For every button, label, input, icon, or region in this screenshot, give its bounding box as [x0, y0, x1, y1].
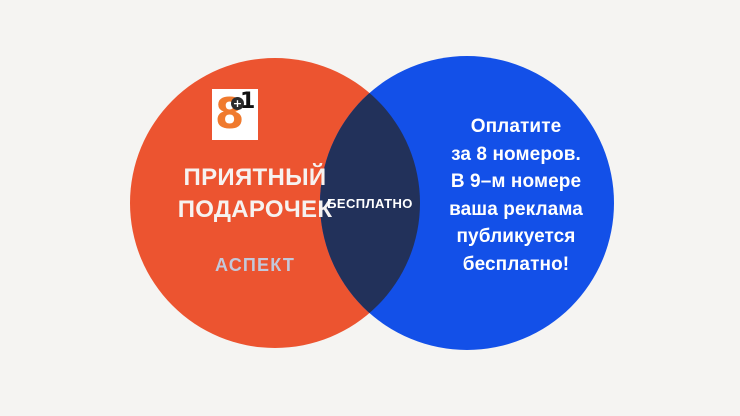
intersection-label: БЕСПЛАТНО	[318, 196, 422, 212]
right-copy-line-4: ваша реклама	[418, 196, 614, 224]
left-headline-line-1: ПРИЯТНЫЙ	[130, 162, 380, 194]
right-copy-line-1: Оплатите	[418, 113, 614, 141]
right-copy-line-6: бесплатно!	[418, 251, 614, 279]
right-copy-line-2: за 8 номеров.	[418, 141, 614, 169]
right-offer-copy: Оплатите за 8 номеров. В 9–м номере ваша…	[418, 113, 614, 278]
right-copy-line-5: публикуется	[418, 223, 614, 251]
brand-logo: 8 1 +	[212, 89, 258, 140]
logo-plus-icon: +	[231, 97, 244, 110]
left-headline: ПРИЯТНЫЙ ПОДАРОЧЕК	[130, 162, 380, 226]
brand-name-label: АСПЕКТ	[130, 254, 380, 276]
right-copy-line-3: В 9–м номере	[418, 168, 614, 196]
logo-inner: 8 1 +	[212, 89, 258, 140]
venn-diagram-slide: 8 1 + ПРИЯТНЫЙ ПОДАРОЧЕК АСПЕКТ БЕСПЛАТН…	[0, 0, 740, 416]
